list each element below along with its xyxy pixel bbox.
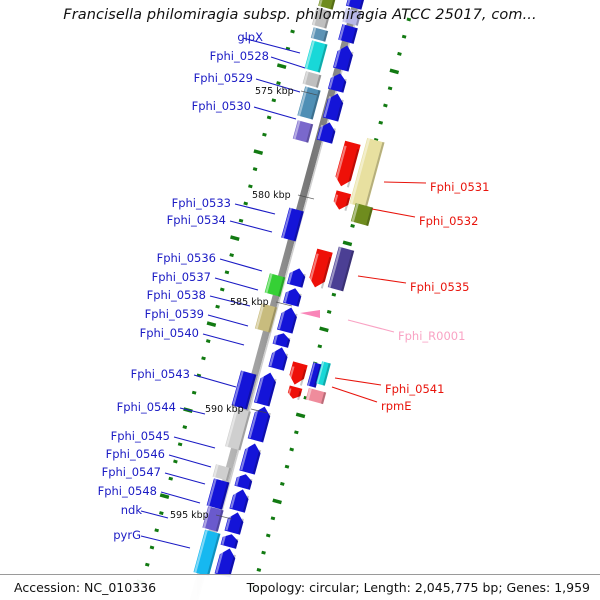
label-leader-line (141, 511, 168, 518)
tick-mark (253, 149, 263, 155)
gene-label-fphi_0533[interactable]: Fphi_0533 (172, 196, 231, 210)
m-0548b[interactable] (225, 510, 246, 534)
m-0537[interactable] (287, 266, 307, 288)
gene-label-fphi_0547[interactable]: Fphi_0547 (102, 465, 161, 479)
label-leader-line (271, 57, 305, 68)
m-0540a[interactable] (273, 331, 292, 348)
tick-mark (220, 288, 225, 292)
gene-label-fphi_0534[interactable]: Fphi_0534 (167, 213, 226, 227)
tick-mark (343, 240, 353, 246)
tick-mark (173, 460, 178, 464)
tick-mark (257, 568, 262, 572)
tick-mark (243, 202, 248, 206)
r-0541-tip[interactable] (287, 386, 303, 401)
gene-label-fphi_0543[interactable]: Fphi_0543 (131, 367, 190, 381)
gene-label-fphi_0545[interactable]: Fphi_0545 (111, 429, 170, 443)
m-pyrGb[interactable] (215, 546, 238, 577)
tick-mark (154, 528, 159, 532)
tick-mark (277, 63, 287, 69)
tick-mark (230, 235, 240, 241)
scale-marker-label: 585 kbp (230, 297, 269, 308)
scale-marker-label: 575 kbp (255, 86, 294, 97)
label-leader-line (230, 221, 272, 232)
label-leader-line (358, 276, 406, 283)
gene-column-right[interactable] (287, 138, 385, 404)
gene-body[interactable] (239, 441, 262, 474)
scale-marker-label: 590 kbp (205, 404, 244, 415)
tick-mark (267, 116, 272, 120)
tick-mark (378, 121, 383, 125)
gene-label-fphi_0532[interactable]: Fphi_0532 (419, 214, 478, 228)
tick-mark (206, 339, 211, 343)
tick-mark (271, 98, 276, 102)
tick-mark (201, 356, 206, 360)
tick-mark (159, 511, 164, 515)
accession-label: Accession: NC_010336 (14, 580, 156, 595)
genome-map-view: glpXFphi_0528Fphi_0529Fphi_0530Fphi_0533… (0, 0, 600, 600)
tick-mark (150, 546, 155, 550)
label-leader-line (194, 375, 236, 387)
tick-mark (389, 68, 399, 74)
gene-label-fphi_0529[interactable]: Fphi_0529 (194, 71, 253, 85)
tick-mark (192, 391, 197, 395)
trna-arrow[interactable] (300, 310, 320, 318)
m-0539b[interactable] (277, 305, 299, 333)
tick-mark (332, 293, 337, 297)
tick-mark (350, 224, 355, 228)
tick-mark (248, 184, 253, 188)
tick-mark (261, 551, 266, 555)
m-0546[interactable] (234, 472, 253, 490)
gene-label-fphi_0535[interactable]: Fphi_0535 (410, 280, 469, 294)
tick-mark (397, 52, 402, 56)
m-0538[interactable] (283, 286, 303, 307)
tick-mark (207, 321, 217, 327)
tick-mark (178, 442, 183, 446)
gene-label-fphi_0531[interactable]: Fphi_0531 (430, 180, 489, 194)
m-0545[interactable] (239, 441, 262, 474)
label-leader-line (348, 320, 394, 332)
scale-marker-label: 580 kbp (252, 190, 291, 201)
gene-label-fphi_0546[interactable]: Fphi_0546 (106, 447, 165, 461)
gene-label-fphi_0548[interactable]: Fphi_0548 (98, 484, 157, 498)
gene-label-fphi_0541[interactable]: Fphi_0541 (385, 382, 444, 396)
g-0530-purp[interactable] (293, 120, 313, 143)
label-leader-line (203, 334, 244, 345)
tick-mark (272, 498, 282, 504)
tick-mark (388, 86, 393, 90)
tick-mark (215, 305, 220, 309)
footer-divider (0, 574, 600, 575)
g-0537-green[interactable] (265, 273, 286, 297)
label-leader-line (141, 536, 190, 548)
gene-label-fphi_0540[interactable]: Fphi_0540 (140, 326, 199, 340)
tick-mark (239, 219, 244, 223)
tick-mark (294, 430, 299, 434)
tick-mark (145, 563, 150, 567)
page-title: Francisella philomiragia subsp. philomir… (0, 7, 600, 23)
tick-mark (289, 448, 294, 452)
tick-mark (319, 326, 329, 332)
tick-mark (182, 425, 187, 429)
tick-mark (271, 516, 276, 520)
gene-label-fphi_0538[interactable]: Fphi_0538 (147, 288, 206, 302)
gene-label-pyrg[interactable]: pyrG (113, 528, 141, 542)
label-leader-line (384, 182, 426, 183)
tick-mark (225, 270, 230, 274)
r-0532-olive[interactable] (351, 203, 373, 226)
tick-mark (276, 81, 281, 85)
m-b2[interactable] (338, 24, 358, 44)
tick-mark (285, 465, 290, 469)
gene-body[interactable] (297, 86, 320, 119)
g-glpX-cyan[interactable] (304, 40, 327, 72)
scale-marker-label: 595 kbp (170, 510, 209, 521)
tick-mark (327, 310, 332, 314)
tick-mark (290, 30, 295, 34)
tick-mark (296, 412, 306, 418)
m-b5[interactable] (323, 91, 346, 121)
tick-mark (168, 477, 173, 481)
right-gene-labels[interactable]: Fphi_0531Fphi_0532Fphi_0535Fphi_R0001Fph… (381, 180, 489, 413)
label-leader-line (332, 387, 377, 402)
gene-label-fphi_r0001[interactable]: Fphi_R0001 (398, 329, 465, 343)
genome-graphical-map[interactable]: glpXFphi_0528Fphi_0529Fphi_0530Fphi_0533… (0, 0, 600, 600)
label-leader-line (372, 209, 415, 217)
tick-mark (383, 104, 388, 108)
label-leader-line (174, 437, 215, 448)
tick-mark (253, 167, 258, 171)
g-0548-blue[interactable] (207, 478, 230, 509)
m-ndkb[interactable] (221, 532, 240, 549)
tick-mark (262, 133, 267, 137)
g-0529-steel[interactable] (297, 86, 320, 119)
tick-mark (317, 344, 322, 348)
gene-label-glpx[interactable]: glpX (237, 30, 263, 44)
g-0529-grey[interactable] (303, 71, 322, 88)
sequence-stats-label: Topology: circular; Length: 2,045,775 bp… (247, 580, 590, 595)
trna-arrow-icon[interactable] (300, 310, 320, 318)
gene-body[interactable] (248, 405, 273, 443)
r-rpmE-pink[interactable] (306, 388, 327, 404)
label-leader-line (235, 204, 275, 214)
g-0528-steel[interactable] (311, 27, 328, 42)
label-leader-line (180, 408, 205, 414)
m-0544b[interactable] (248, 405, 273, 443)
tick-mark (266, 534, 271, 538)
r-0531-tip[interactable] (332, 190, 351, 211)
gene-label-ndk[interactable]: ndk (121, 503, 143, 517)
status-bar: Accession: NC_010336 Topology: circular;… (0, 574, 600, 600)
m-0547b[interactable] (229, 487, 250, 512)
m-0540b[interactable] (268, 345, 289, 370)
gene-label-fphi_0537[interactable]: Fphi_0537 (152, 270, 211, 284)
label-leader-line (254, 107, 296, 119)
gene-label-fphi_0544[interactable]: Fphi_0544 (117, 400, 176, 414)
tick-mark (229, 253, 234, 257)
label-leader-line (220, 259, 262, 271)
r-0541-red[interactable] (287, 361, 307, 386)
gene-label-fphi_0530[interactable]: Fphi_0530 (192, 99, 251, 113)
gene-label-fphi_0539[interactable]: Fphi_0539 (145, 307, 204, 321)
gene-label-rpme[interactable]: rpmE (381, 399, 412, 413)
label-leader-line (335, 378, 381, 385)
gene-label-fphi_0528[interactable]: Fphi_0528 (210, 49, 269, 63)
gene-label-fphi_0536[interactable]: Fphi_0536 (157, 251, 216, 265)
m-b3[interactable] (333, 43, 355, 71)
tick-mark (402, 35, 407, 39)
tick-mark (280, 482, 285, 486)
